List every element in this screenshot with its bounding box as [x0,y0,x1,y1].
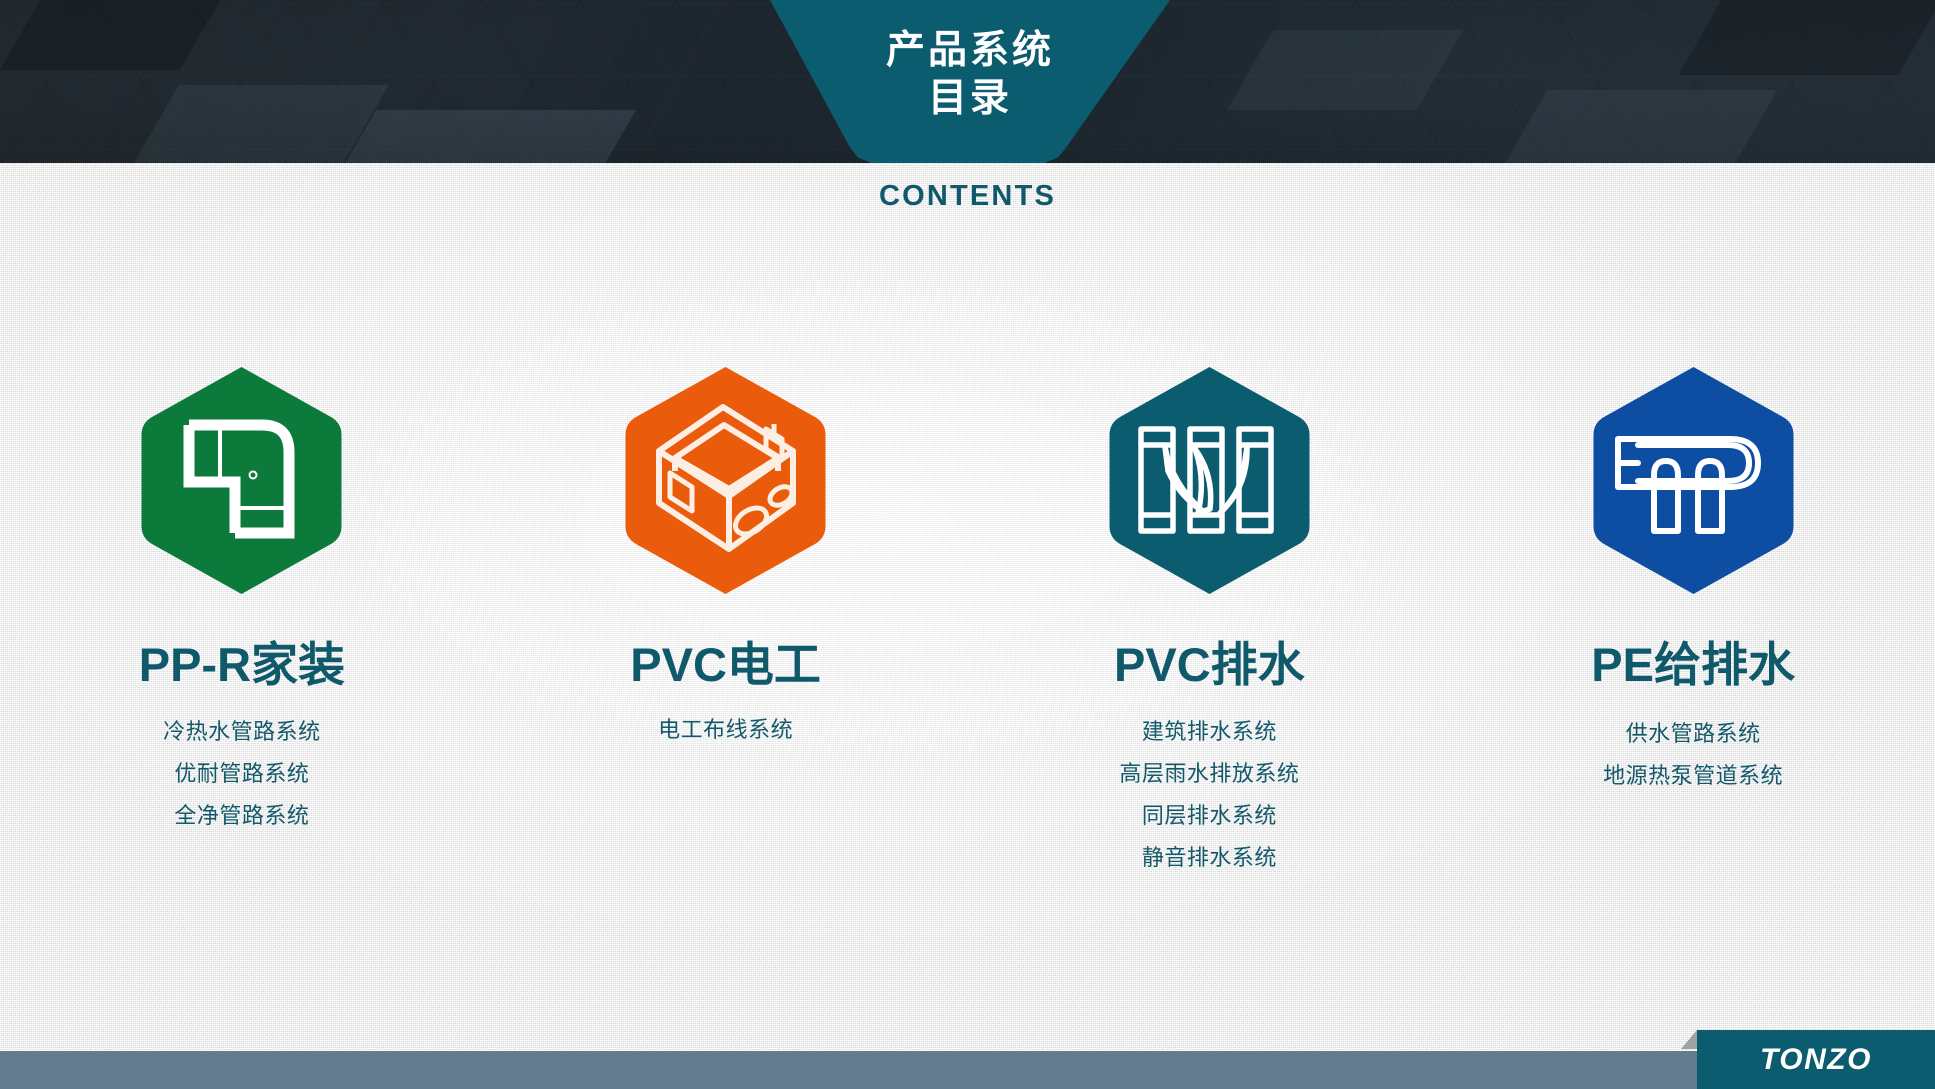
list-item: 全净管路系统 [0,795,484,837]
junction-box-icon [618,363,833,598]
list-item: 建筑排水系统 [968,711,1452,753]
list-item: 同层排水系统 [968,795,1452,837]
product-title: PE给排水 [1451,626,1935,695]
brand-logo: TONZO [1697,1030,1935,1089]
product-title: PVC排水 [968,626,1452,695]
icon-slot [1451,360,1935,600]
product-title: PP-R家装 [0,626,484,695]
product-item-list: 电工布线系统 [484,709,968,751]
product-column-ppr[interactable]: PP-R家装 冷热水管路系统 优耐管路系统 全净管路系统 [0,360,484,837]
product-column-pvc-electrical[interactable]: PVC电工 电工布线系统 [484,360,968,751]
list-item: 优耐管路系统 [0,753,484,795]
icon-slot [484,360,968,600]
water-manifold-icon [1586,363,1801,598]
pipe-elbow-icon [134,363,349,598]
product-item-list: 供水管路系统 地源热泵管道系统 [1451,713,1935,797]
footer-bar [0,1051,1935,1089]
list-item: 地源热泵管道系统 [1451,755,1935,797]
contents-label: CONTENTS [0,180,1935,213]
product-column-pe-water[interactable]: PE给排水 供水管路系统 地源热泵管道系统 [1451,360,1935,797]
product-title: PVC电工 [484,626,968,695]
brand-logo-text: TONZO [1760,1043,1872,1077]
slide-root: 产品系统 目录 CONTENTS [0,0,1935,1089]
drainage-pipes-icon [1102,363,1317,598]
logo-fold-shadow [1681,1030,1697,1049]
list-item: 电工布线系统 [484,709,968,751]
list-item: 静音排水系统 [968,837,1452,879]
product-columns: PP-R家装 冷热水管路系统 优耐管路系统 全净管路系统 [0,360,1935,879]
list-item: 高层雨水排放系统 [968,753,1452,795]
product-item-list: 冷热水管路系统 优耐管路系统 全净管路系统 [0,711,484,837]
list-item: 供水管路系统 [1451,713,1935,755]
list-item: 冷热水管路系统 [0,711,484,753]
icon-slot [0,360,484,600]
product-item-list: 建筑排水系统 高层雨水排放系统 同层排水系统 静音排水系统 [968,711,1452,879]
slide-title-primary: 产品系统 [770,27,1170,75]
icon-slot [968,360,1452,600]
product-column-pvc-drainage[interactable]: PVC排水 建筑排水系统 高层雨水排放系统 同层排水系统 静音排水系统 [968,360,1452,879]
